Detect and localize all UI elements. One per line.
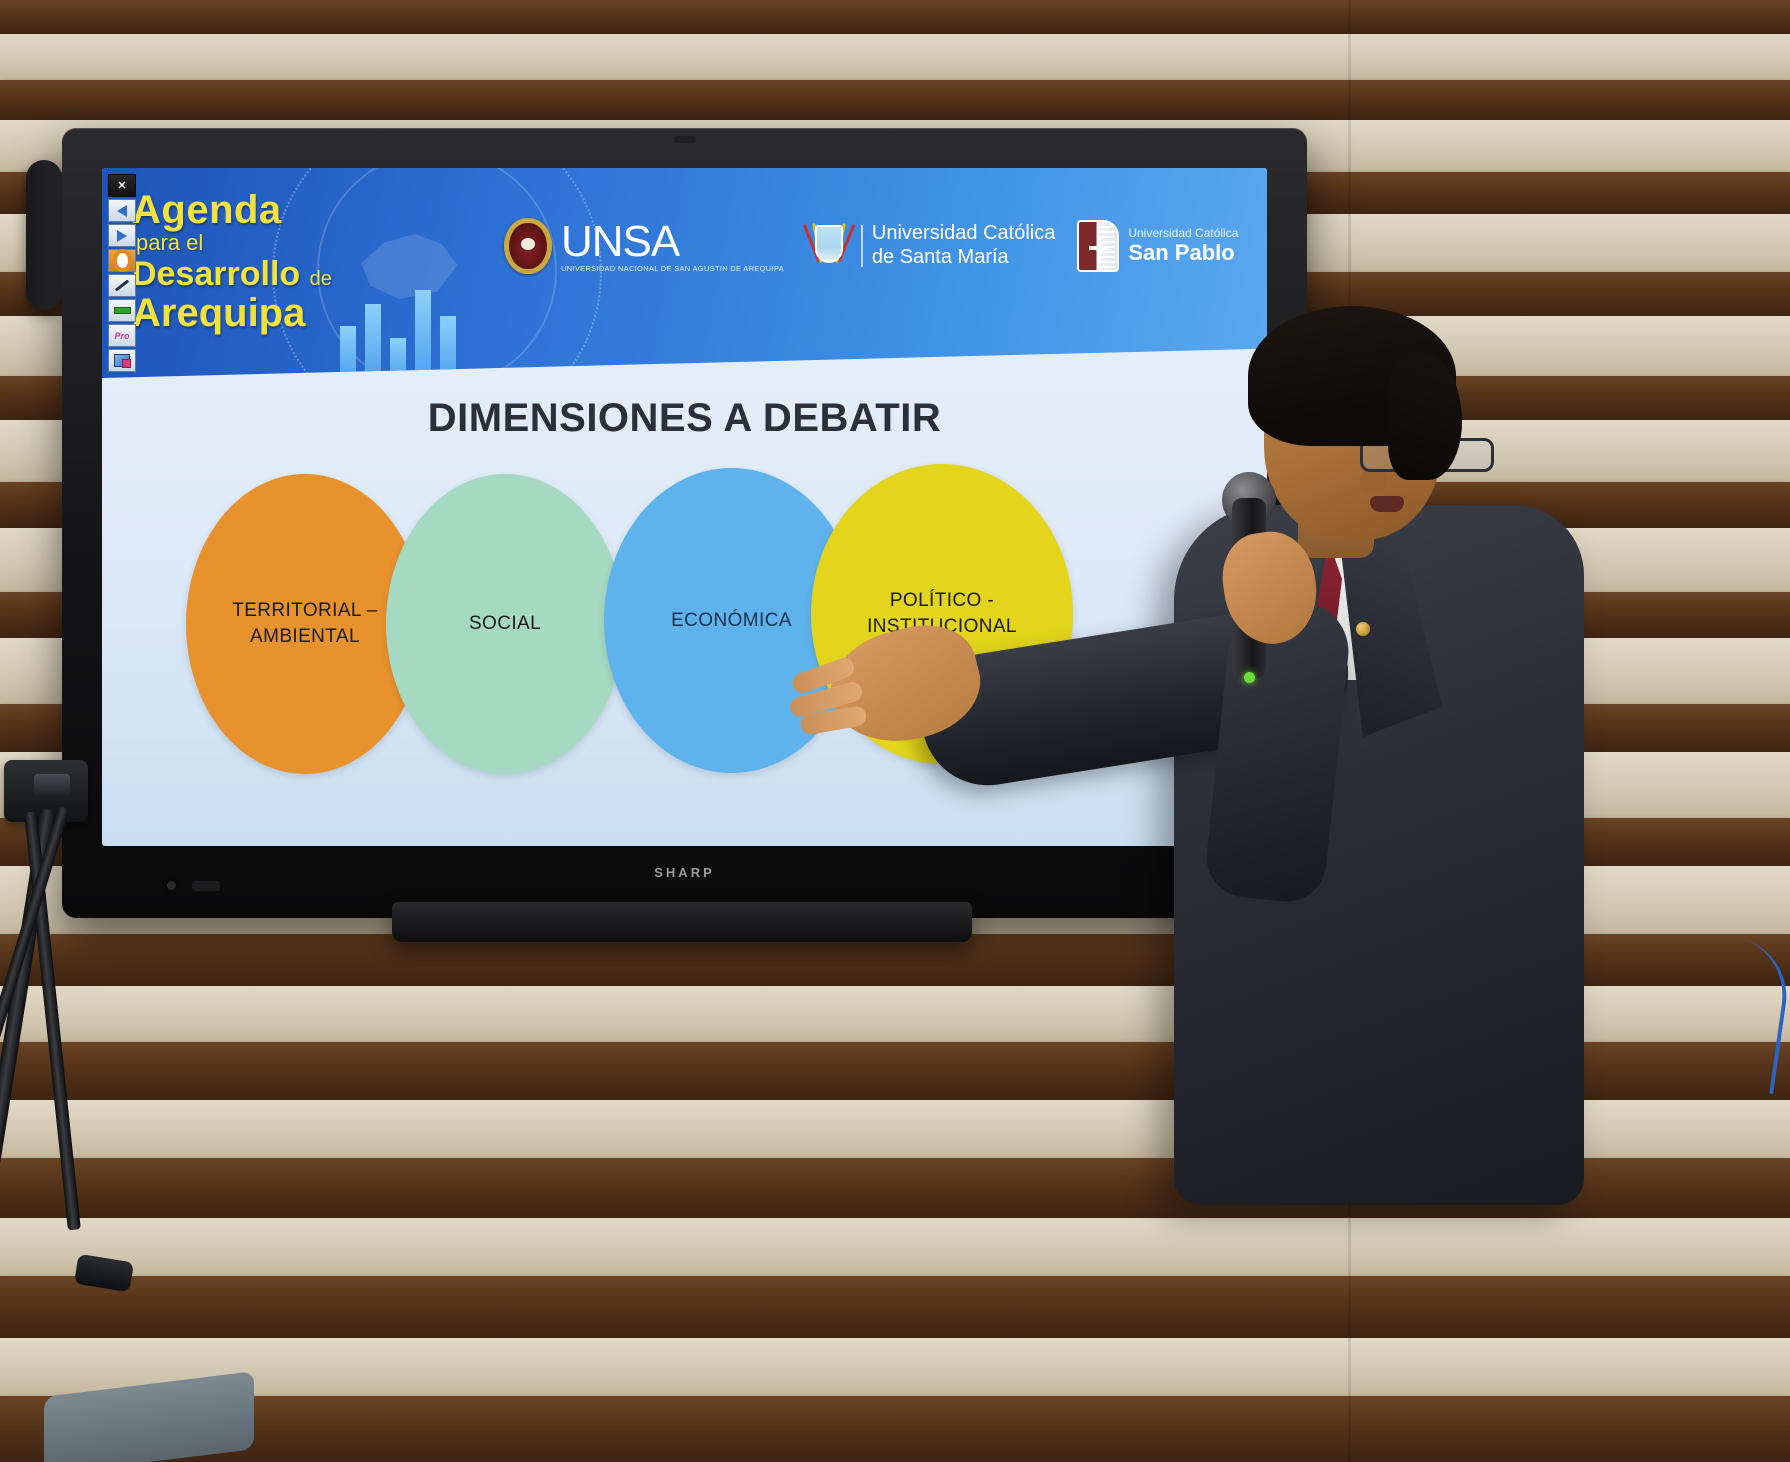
whiteboard-annotation-toolbar[interactable]: ✕ Pro	[108, 174, 136, 372]
agenda-logo-line3-suffix: de	[310, 268, 332, 290]
agenda-logo-line2: para el	[136, 232, 332, 254]
mouth	[1370, 496, 1404, 512]
dimension-label-line1: TERRITORIAL –	[232, 600, 378, 621]
presenter	[1160, 300, 1590, 1462]
arrow-right-icon[interactable]	[108, 224, 136, 247]
dimension-label-line1: ECONÓMICA	[671, 608, 792, 634]
dimension-circle-social: SOCIAL	[386, 474, 624, 774]
wall-slat	[0, 34, 1790, 80]
wall-slat	[0, 0, 1790, 34]
interactive-display[interactable]: Agenda para el Desarrollo de Arequipa U	[62, 128, 1307, 918]
university-logo-san-pablo: Universidad Católica San Pablo	[1077, 220, 1238, 272]
pen-icon[interactable]	[108, 274, 136, 297]
soundbar	[392, 902, 972, 942]
camera-icon	[674, 136, 696, 143]
unsa-acronym: UNSA	[561, 220, 784, 264]
unsa-full-name: UNIVERSIDAD NACIONAL DE SAN AGUSTIN DE A…	[561, 265, 784, 273]
wall-slat	[0, 80, 1790, 120]
ucsm-name-line1: Universidad Católica	[872, 222, 1055, 246]
unsa-seal-icon	[504, 218, 552, 274]
arrow-left-icon[interactable]	[108, 199, 136, 222]
university-logo-unsa: UNSA UNIVERSIDAD NACIONAL DE SAN AGUSTIN…	[504, 218, 784, 274]
tripod-knob	[34, 774, 70, 798]
lapel-pin	[1356, 622, 1370, 636]
dimension-label-line1: SOCIAL	[469, 611, 541, 637]
university-logos: UNSA UNIVERSIDAD NACIONAL DE SAN AGUSTIN…	[504, 218, 1238, 274]
handwriting-icon[interactable]: Pro	[108, 324, 136, 347]
screen-capture-icon[interactable]	[108, 349, 136, 372]
dimension-label-line2: AMBIENTAL	[250, 626, 360, 647]
highlighter-icon[interactable]	[108, 249, 136, 272]
stage-platform	[44, 1371, 254, 1462]
agenda-logo-line3-text: Desarrollo	[132, 255, 300, 293]
agenda-logo: Agenda para el Desarrollo de Arequipa	[132, 190, 332, 333]
ucsm-seal-icon	[806, 219, 852, 273]
usp-name-line1: Universidad Católica	[1128, 227, 1238, 240]
microphone-led	[1244, 672, 1255, 683]
display-side-grip	[26, 160, 62, 310]
display-brand-label: SHARP	[654, 865, 715, 880]
agenda-logo-line1: Agenda	[132, 190, 332, 230]
usp-name-line2: San Pablo	[1128, 241, 1238, 265]
dimension-label-line1: POLÍTICO -	[890, 590, 994, 611]
logo-divider	[861, 225, 863, 267]
tripod-leg	[24, 811, 81, 1230]
camera-tripod	[0, 760, 230, 1462]
agenda-logo-line4: Arequipa	[132, 293, 332, 333]
presentation-scene: Agenda para el Desarrollo de Arequipa U	[0, 0, 1790, 1462]
university-logo-ucsm: Universidad Católica de Santa María	[806, 219, 1055, 273]
usp-shield-icon	[1077, 220, 1119, 272]
eraser-icon[interactable]	[108, 299, 136, 322]
slide-header-banner: Agenda para el Desarrollo de Arequipa U	[102, 168, 1267, 378]
tripod-foot	[74, 1254, 134, 1292]
close-icon[interactable]: ✕	[108, 174, 136, 197]
decorative-bar-chart	[340, 290, 456, 378]
ucsm-name-line2: de Santa María	[872, 246, 1055, 270]
page-title: DIMENSIONES A DEBATIR	[102, 396, 1267, 441]
agenda-logo-line3: Desarrollo de	[132, 257, 332, 291]
